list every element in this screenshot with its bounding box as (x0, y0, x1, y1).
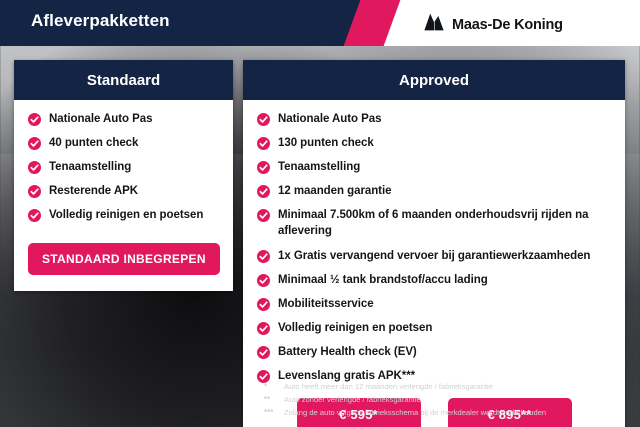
feature-label: Minimaal ½ tank brandstof/accu lading (278, 272, 488, 288)
check-circle-icon (257, 250, 270, 263)
check-circle-icon (28, 137, 41, 150)
card-body-standaard: Nationale Auto Pas 40 punten check Tenaa… (14, 100, 233, 291)
check-circle-icon (257, 185, 270, 198)
check-circle-icon (257, 161, 270, 174)
list-item: Minimaal ½ tank brandstof/accu lading (257, 272, 615, 288)
footnote-marker: *** (264, 407, 280, 418)
list-item: Nationale Auto Pas (257, 111, 615, 127)
feature-label: 1x Gratis vervangend vervoer bij garanti… (278, 248, 590, 264)
check-circle-icon (257, 346, 270, 359)
feature-label: 12 maanden garantie (278, 183, 391, 199)
footnote-text: Zolang de auto volgens fabrieksschema bi… (284, 407, 546, 418)
card-title-approved: Approved (243, 60, 625, 100)
footnote-marker: * (264, 381, 280, 392)
check-circle-icon (28, 185, 41, 198)
feature-label: Volledig reinigen en poetsen (278, 320, 432, 336)
check-circle-icon (257, 113, 270, 126)
footnote-row: ** Auto zonder verlengde / fabrieksgaran… (264, 394, 634, 405)
feature-label: 40 punten check (49, 135, 138, 151)
footnote-text: Auto heeft meer dan 12 maanden verlengde… (284, 381, 493, 392)
list-item: Resterende APK (28, 183, 223, 199)
check-circle-icon (28, 161, 41, 174)
feature-label: Battery Health check (EV) (278, 344, 417, 360)
list-item: Volledig reinigen en poetsen (257, 320, 615, 336)
maas-de-koning-logo-mark-icon (423, 12, 445, 37)
page-header: Afleverpakketten Maas-De Koning (0, 0, 640, 46)
standaard-included-button[interactable]: STANDAARD INBEGREPEN (28, 243, 220, 275)
check-circle-icon (257, 274, 270, 287)
footnote-text: Auto zonder verlengde / fabrieksgarantie (284, 394, 421, 405)
feature-list-standaard: Nationale Auto Pas 40 punten check Tenaa… (14, 111, 233, 223)
feature-label: Mobiliteitsservice (278, 296, 374, 312)
list-item: Nationale Auto Pas (28, 111, 223, 127)
feature-label: Volledig reinigen en poetsen (49, 207, 203, 223)
check-circle-icon (257, 209, 270, 222)
feature-label: Nationale Auto Pas (49, 111, 152, 127)
check-circle-icon (28, 113, 41, 126)
list-item: 130 punten check (257, 135, 615, 151)
check-circle-icon (28, 209, 41, 222)
feature-label: Tenaamstelling (278, 159, 360, 175)
check-circle-icon (257, 322, 270, 335)
feature-label: Minimaal 7.500km of 6 maanden onderhouds… (278, 207, 615, 239)
brand-logo: Maas-De Koning (423, 12, 563, 37)
list-item: 1x Gratis vervangend vervoer bij garanti… (257, 248, 615, 264)
feature-label: Resterende APK (49, 183, 138, 199)
list-item: 12 maanden garantie (257, 183, 615, 199)
list-item: 40 punten check (28, 135, 223, 151)
list-item: Minimaal 7.500km of 6 maanden onderhouds… (257, 207, 615, 239)
list-item: Mobiliteitsservice (257, 296, 615, 312)
feature-list-approved: Nationale Auto Pas 130 punten check Tena… (243, 111, 625, 384)
list-item: Tenaamstelling (257, 159, 615, 175)
list-item: Tenaamstelling (28, 159, 223, 175)
card-title-standaard: Standaard (14, 60, 233, 100)
footnote-marker: ** (264, 394, 280, 405)
check-circle-icon (257, 298, 270, 311)
feature-label: 130 punten check (278, 135, 374, 151)
page-title: Afleverpakketten (31, 11, 170, 31)
list-item: Volledig reinigen en poetsen (28, 207, 223, 223)
brand-name: Maas-De Koning (452, 17, 563, 33)
list-item: Battery Health check (EV) (257, 344, 615, 360)
card-body-approved: Nationale Auto Pas 130 punten check Tena… (243, 100, 625, 427)
check-circle-icon (257, 137, 270, 150)
footnote-row: * Auto heeft meer dan 12 maanden verleng… (264, 381, 634, 392)
feature-label: Tenaamstelling (49, 159, 131, 175)
package-card-approved: Approved Nationale Auto Pas 130 punten c… (243, 60, 625, 427)
feature-label: Nationale Auto Pas (278, 111, 381, 127)
delivery-packages-page: Afleverpakketten Maas-De Koning Standaar… (0, 0, 640, 427)
footnote-row: *** Zolang de auto volgens fabrieksschem… (264, 407, 634, 418)
package-card-standaard: Standaard Nationale Auto Pas 40 punten c… (14, 60, 233, 291)
footnotes: * Auto heeft meer dan 12 maanden verleng… (264, 381, 634, 420)
